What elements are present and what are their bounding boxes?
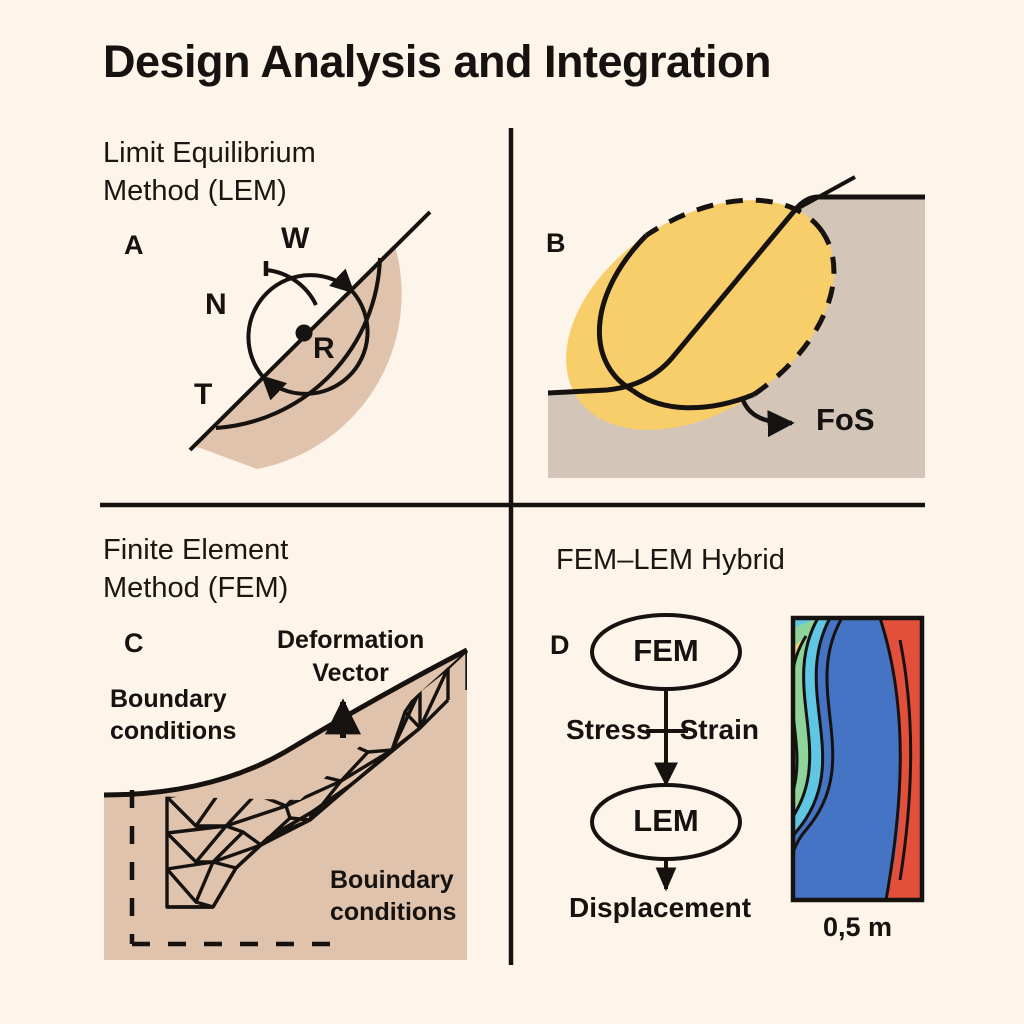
flow-node-lem-label: LEM [606,803,726,839]
panel-b-letter: B [546,228,566,259]
panel-d-letter: D [550,630,570,661]
flow-output-label-displacement: Displacement [569,892,751,924]
flow-node-fem-label: FEM [606,633,726,669]
label-deformation-vector: Deformation Vector [277,624,424,689]
label-normal-n: N [205,288,227,322]
label-weight-w: W [281,222,309,256]
flow-edge-label-stress-strain: Stress—Strain [566,714,759,746]
page-title: Design Analysis and Integration [103,36,771,88]
label-radius-r: R [313,332,335,366]
label-factor-of-safety: FoS [816,402,875,438]
panel-d-heading: FEM–LEM Hybrid [556,541,785,579]
label-shear-t: T [194,378,212,412]
panel-c-letter: C [124,628,144,659]
panel-a-artwork [190,212,430,469]
panel-a-letter: A [124,230,144,261]
label-boundary-conditions-right: Bouindary conditions [330,864,456,928]
figure-canvas: Design Analysis and Integration Limit Eq… [0,0,1024,1024]
panel-c-heading: Finite Element Method (FEM) [103,531,288,608]
contour-map [745,618,922,900]
lem-centre-point [296,325,313,342]
label-boundary-conditions-left: Boundary conditions [110,683,236,747]
panel-a-heading: Limit Equilibrium Method (LEM) [103,134,316,211]
contour-scale-label: 0,5 m [823,912,892,943]
